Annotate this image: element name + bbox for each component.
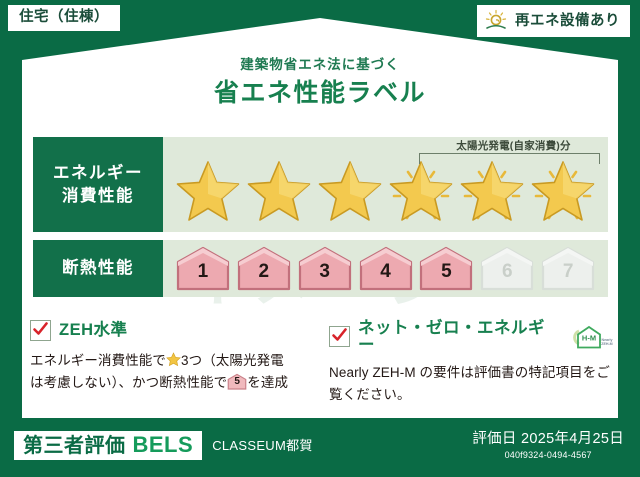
- label-title: 省エネ性能ラベル: [0, 80, 640, 108]
- energy-star: [387, 160, 455, 226]
- energy-star-rating: [163, 160, 608, 226]
- building-type-tag-label: 住宅（住棟）: [19, 9, 109, 25]
- label-footer: 第三者評価 BELS CLASSEUM都賀 評価日 2025年4月25日 040…: [0, 421, 640, 477]
- zeh-body-stars: 3つ（太陽光発電: [181, 353, 284, 368]
- insulation-grade-badge: 7: [541, 246, 595, 291]
- insulation-performance-row-body: 1 2 3 4 5 6 7: [163, 240, 608, 297]
- zeh-body-part1: エネルギー消費性能で: [30, 353, 166, 368]
- sun-renewable-icon: [483, 9, 509, 33]
- bels-en-label: BELS: [133, 434, 194, 456]
- insulation-grade-badge: 4: [359, 246, 413, 291]
- building-type-tag: 住宅（住棟）: [8, 5, 120, 31]
- insulation-grade-badge: 5: [419, 246, 473, 291]
- energy-performance-row-body: 太陽光発電(自家消費)分: [163, 137, 608, 232]
- energy-star: [529, 160, 597, 226]
- net-zero-energy-statement: ネット・ゼロ・エネルギー H-M Nearly ZEH-M Nearly ZEH…: [329, 320, 614, 406]
- zeh-standard-statement: ZEH水準 エネルギー消費性能で3つ（太陽光発電 は考慮しない）、かつ断熱性能で…: [30, 320, 315, 406]
- insulation-grade-value: 7: [541, 262, 595, 281]
- inline-star-icon: [166, 352, 181, 367]
- insulation-grade-value: 5: [419, 262, 473, 281]
- insulation-grade-badge: 2: [237, 246, 291, 291]
- zeh-standard-checkbox: [30, 320, 51, 341]
- evaluation-date: 評価日 2025年4月25日: [472, 432, 624, 448]
- bels-plate: 第三者評価 BELS: [14, 431, 202, 460]
- zeh-body-part3: を達成: [247, 375, 288, 390]
- insulation-performance-row: 断熱性能 1 2 3 4 5 6 7: [33, 240, 608, 297]
- insulation-grade-badge: 6: [480, 246, 534, 291]
- renewable-energy-badge-label: 再エネ設備あり: [515, 14, 620, 29]
- nearly-zeh-m-logo: H-M Nearly ZEH-M: [570, 324, 614, 350]
- renewable-energy-badge: 再エネ設備あり: [477, 5, 630, 37]
- building-name: CLASSEUM都賀: [212, 439, 313, 452]
- insulation-grade-value: 6: [480, 262, 534, 281]
- svg-text:H-M: H-M: [582, 333, 596, 342]
- energy-label-line1: エネルギー: [53, 162, 143, 184]
- zeh-standard-body: エネルギー消費性能で3つ（太陽光発電 は考慮しない）、かつ断熱性能で5を達成: [30, 350, 315, 394]
- energy-performance-row-label: エネルギー 消費性能: [33, 137, 163, 232]
- evaluation-number: 040f9324-0494-4567: [472, 451, 624, 460]
- insulation-label-text: 断熱性能: [62, 257, 134, 279]
- svg-text:ZEH-M: ZEH-M: [601, 342, 612, 346]
- net-zero-energy-checkbox: [329, 326, 350, 347]
- net-zero-energy-title: ネット・ゼロ・エネルギー: [358, 320, 560, 353]
- statements-section: ZEH水準 エネルギー消費性能で3つ（太陽光発電 は考慮しない）、かつ断熱性能で…: [30, 320, 614, 406]
- insulation-grade-value: 4: [359, 262, 413, 281]
- energy-star: [174, 160, 242, 226]
- insulation-grade-badges: 1 2 3 4 5 6 7: [163, 240, 608, 297]
- zeh-body-part2: は考慮しない）、かつ断熱性能で: [30, 375, 227, 390]
- bels-jp-label: 第三者評価: [23, 436, 126, 456]
- insulation-grade-badge: 3: [298, 246, 352, 291]
- insulation-grade-value: 3: [298, 262, 352, 281]
- energy-label-root: 住宅（住棟） 再エネ設備あり 建築物省エネ法に基づく 省エネ性能ラベル: [0, 0, 640, 477]
- net-zero-energy-header: ネット・ゼロ・エネルギー H-M Nearly ZEH-M: [329, 320, 614, 353]
- energy-label-line2: 消費性能: [62, 185, 134, 207]
- insulation-grade-value: 2: [237, 262, 291, 281]
- zeh-standard-title: ZEH水準: [59, 322, 128, 339]
- solar-bracket: [419, 153, 600, 164]
- evaluation-info: 評価日 2025年4月25日 040f9324-0494-4567: [472, 432, 624, 460]
- insulation-grade-value: 1: [176, 262, 230, 281]
- energy-star: [458, 160, 526, 226]
- label-subtitle: 建築物省エネ法に基づく: [0, 58, 640, 73]
- inline-insulation-badge-value: 5: [227, 377, 247, 387]
- net-zero-energy-body: Nearly ZEH-M の要件は評価書の特記項目をご覧ください。: [329, 362, 614, 406]
- energy-star: [316, 160, 384, 226]
- energy-star: [245, 160, 313, 226]
- bels-block: 第三者評価 BELS CLASSEUM都賀: [14, 431, 313, 460]
- energy-performance-row: エネルギー 消費性能 太陽光発電(自家消費)分: [33, 137, 608, 232]
- insulation-performance-row-label: 断熱性能: [33, 240, 163, 297]
- label-title-block: 建築物省エネ法に基づく 省エネ性能ラベル: [0, 58, 640, 107]
- solar-bracket-label: 太陽光発電(自家消費)分: [419, 138, 608, 153]
- zeh-standard-header: ZEH水準: [30, 320, 315, 341]
- inline-insulation-badge-icon: 5: [227, 373, 247, 390]
- insulation-grade-badge: 1: [176, 246, 230, 291]
